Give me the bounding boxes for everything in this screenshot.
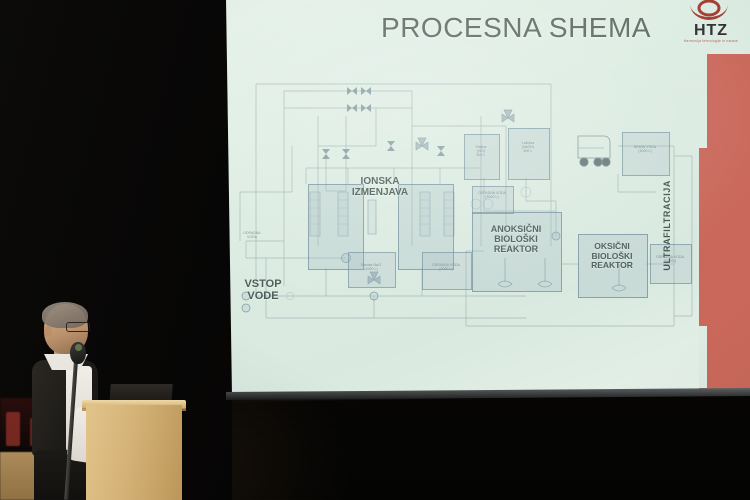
tag-line2: VODA — [232, 236, 272, 240]
label-anoksicni-reaktor: ANOKSIČNI BIOLOŠKI REAKTOR — [466, 224, 566, 254]
tag-odpadna-voda-left: ODPADNA VODA — [232, 232, 272, 240]
tag-demin-voda: DEMIN VODA (1000 L) — [622, 146, 668, 154]
slide-title: PROCESNA SHEMA — [356, 12, 676, 44]
label-vstop-line1: VSTOP — [230, 278, 296, 290]
tag-odpadna-voda-oxic: ODPADNA VODA (T0001) — [650, 256, 690, 264]
tag-line2: (1000 L) — [622, 150, 668, 154]
tag-kislina: Kislina (HCl) 500 L — [464, 146, 498, 158]
tank-dose-2 — [508, 128, 550, 180]
label-vstop-line2: VODE — [230, 290, 296, 302]
label-vstop-vode: VSTOP VODE — [230, 278, 296, 303]
tag-slanica: Slanica NaCl (1000 L) — [348, 264, 394, 272]
tag-line2: (1000 L) — [348, 268, 394, 272]
label-anoksicni-line2: BIOLOŠKI — [466, 234, 566, 244]
tag-line2: (3000 L) — [472, 196, 512, 200]
htz-logo: HTZ Harmonija tehnologije in narave — [678, 0, 744, 52]
microphone-windscreen — [75, 344, 82, 351]
screenshot-root: IONSKA IZMENJAVA ANOKSIČNI BIOLOŠKI REAK… — [0, 0, 750, 500]
label-oksicni-line3: REAKTOR — [566, 261, 658, 271]
tag-odpadna-voda-mid: ODPADNA VODA (2000 L) — [422, 264, 470, 272]
label-anoksicni-line3: REAKTOR — [466, 244, 566, 254]
tag-uf-feed: ODPADNA VODA (3000 L) — [472, 192, 512, 200]
tag-line2: (T0001) — [650, 260, 690, 264]
presenter-ear — [44, 326, 52, 337]
label-ionska-line1: IONSKA — [322, 176, 438, 187]
tag-line3: 500 L — [508, 150, 548, 154]
slide-canvas: IONSKA IZMENJAVA ANOKSIČNI BIOLOŠKI REAK… — [226, 0, 750, 396]
htz-wordmark: HTZ — [680, 22, 742, 40]
projection-screen: IONSKA IZMENJAVA ANOKSIČNI BIOLOŠKI REAK… — [218, 0, 750, 406]
label-oksicni-reaktor: OKSIČNI BIOLOŠKI REAKTOR — [566, 242, 658, 271]
glasses-icon — [66, 322, 90, 332]
htz-tagline: Harmonija tehnologije in narave — [680, 39, 742, 43]
tag-line2: (2000 L) — [422, 268, 470, 272]
projected-slide: IONSKA IZMENJAVA ANOKSIČNI BIOLOŠKI REAK… — [226, 0, 750, 396]
tanker-truck-icon — [578, 136, 610, 166]
label-anoksicni-line1: ANOKSIČNI — [466, 224, 566, 234]
label-ionska-line2: IZMENJAVA — [322, 187, 438, 198]
tag-line3: 500 L — [464, 154, 498, 158]
tag-luznina: Lužnina (NaOH) 500 L — [508, 142, 548, 154]
label-ionska-izmenjava: IONSKA IZMENJAVA — [322, 176, 438, 198]
podium — [86, 405, 182, 500]
tank-demin — [622, 132, 670, 176]
